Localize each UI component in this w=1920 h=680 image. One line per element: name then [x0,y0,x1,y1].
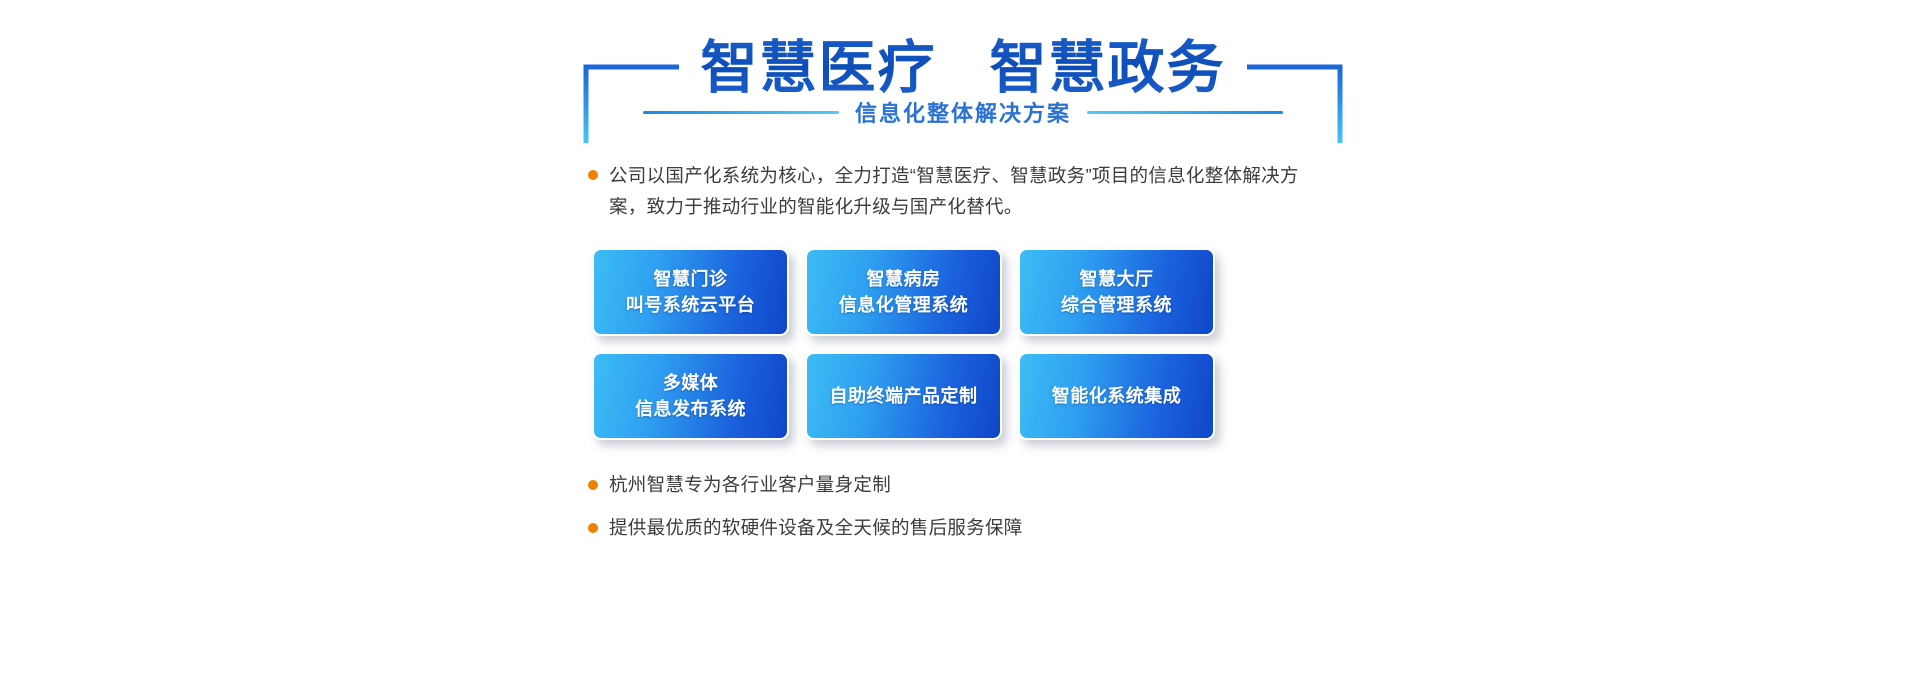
card-label: 多媒体 信息发布系统 [629,370,752,422]
list-item: 提供最优质的软硬件设备及全天候的售后服务保障 [588,515,1328,541]
card-label: 智慧大厅 综合管理系统 [1055,266,1178,318]
bullet-text: 提供最优质的软硬件设备及全天候的售后服务保障 [609,515,1023,541]
card-label-line2: 综合管理系统 [1061,295,1172,315]
bullet-dot-icon [588,170,598,180]
banner-content: 智慧医疗 智慧政务 信息化整体解决方案 公司以国产化系统为核心，全力打造“智慧医… [0,0,1920,680]
card-intelligent-integration[interactable]: 智能化系统集成 [1018,352,1215,440]
feature-bullet-list: 杭州智慧专为各行业客户量身定制 提供最优质的软硬件设备及全天候的售后服务保障 [588,472,1328,558]
subtitle-text: 信息化整体解决方案 [839,96,1087,128]
list-item: 杭州智慧专为各行业客户量身定制 [588,472,1328,498]
title-block: 智慧医疗 智慧政务 信息化整体解决方案 [583,22,1343,147]
card-label-line1: 智慧病房 [867,269,941,289]
card-label: 智能化系统集成 [1046,383,1188,409]
card-label: 智慧门诊 叫号系统云平台 [620,266,762,318]
card-label-line2: 信息发布系统 [635,399,746,419]
card-smart-outpatient[interactable]: 智慧门诊 叫号系统云平台 [592,248,789,336]
card-smart-hall[interactable]: 智慧大厅 综合管理系统 [1018,248,1215,336]
main-title: 智慧医疗 智慧政务 [583,22,1343,104]
solution-card-grid: 智慧门诊 叫号系统云平台 智慧病房 信息化管理系统 智慧大厅 综合管理系统 [592,248,1332,456]
card-smart-ward[interactable]: 智慧病房 信息化管理系统 [805,248,1002,336]
title-part-medical: 智慧医疗 [701,22,937,104]
card-label-line1: 自助终端产品定制 [830,386,978,406]
subtitle-row: 信息化整体解决方案 [583,96,1343,128]
bullet-dot-icon [588,523,598,533]
card-label-line1: 多媒体 [663,373,719,393]
card-label: 智慧病房 信息化管理系统 [833,266,975,318]
card-self-service-terminal[interactable]: 自助终端产品定制 [805,352,1002,440]
promo-banner: 智慧医疗 智慧政务 信息化整体解决方案 公司以国产化系统为核心，全力打造“智慧医… [0,0,1920,680]
card-label-line2: 信息化管理系统 [839,295,969,315]
card-row-2: 多媒体 信息发布系统 自助终端产品定制 智能化系统集成 [592,352,1332,440]
card-label: 自助终端产品定制 [824,383,984,409]
bullet-text: 杭州智慧专为各行业客户量身定制 [609,472,891,498]
card-label-line1: 智慧大厅 [1080,269,1154,289]
subtitle-rule-right [1087,111,1283,114]
card-multimedia-publishing[interactable]: 多媒体 信息发布系统 [592,352,789,440]
card-label-line1: 智慧门诊 [654,269,728,289]
card-label-line2: 叫号系统云平台 [626,295,756,315]
card-row-1: 智慧门诊 叫号系统云平台 智慧病房 信息化管理系统 智慧大厅 综合管理系统 [592,248,1332,336]
card-label-line1: 智能化系统集成 [1052,386,1182,406]
lead-paragraph-text: 公司以国产化系统为核心，全力打造“智慧医疗、智慧政务”项目的信息化整体解决方案，… [609,160,1318,222]
lead-paragraph: 公司以国产化系统为核心，全力打造“智慧医疗、智慧政务”项目的信息化整体解决方案，… [588,160,1318,222]
title-part-government: 智慧政务 [989,22,1225,104]
subtitle-rule-left [643,111,839,114]
bullet-dot-icon [588,480,598,490]
